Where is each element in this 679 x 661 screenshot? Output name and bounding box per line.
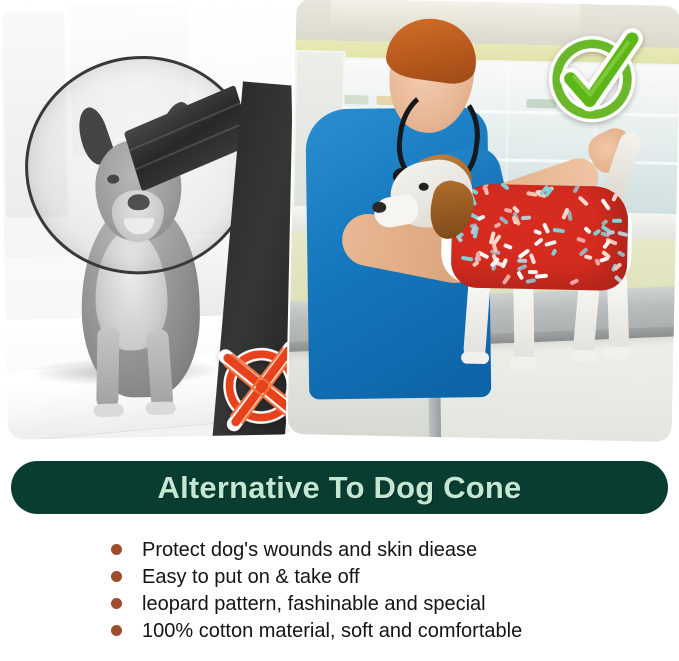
suit-confetti-dot xyxy=(602,239,611,249)
suit-confetti-dot xyxy=(521,215,531,219)
suit-confetti-dot xyxy=(502,274,511,285)
list-item: Protect dog's wounds and skin diease xyxy=(0,536,679,563)
suit-confetti-dot xyxy=(576,236,586,242)
suit-confetti-dot xyxy=(534,237,544,246)
bullet-dot-icon xyxy=(111,544,122,555)
suit-confetti-dot xyxy=(601,198,611,211)
suit-confetti-dot xyxy=(572,184,580,193)
suit-confetti-dot xyxy=(552,228,565,233)
suit-confetti-dot xyxy=(517,270,525,280)
suit-confetti-dot xyxy=(542,223,550,234)
dog-paw-right xyxy=(145,402,175,416)
suit-confetti-dot xyxy=(518,249,530,259)
bullet-dot-icon xyxy=(111,571,122,582)
headline-banner: Alternative To Dog Cone xyxy=(11,461,668,514)
list-item: leopard pattern, fashinable and special xyxy=(0,590,679,617)
suit-confetti-dot xyxy=(525,278,536,284)
suit-confetti-dot xyxy=(503,243,513,250)
suit-confetti-dot xyxy=(578,195,589,206)
list-item-label: Easy to put on & take off xyxy=(142,567,360,587)
beagle-leg-front-right xyxy=(513,279,534,363)
beagle-paw-3 xyxy=(571,350,599,363)
suit-confetti-dot xyxy=(584,255,592,260)
product-infographic: Alternative To Dog Cone Protect dog's wo… xyxy=(0,0,679,661)
suit-confetti-dot xyxy=(612,193,618,202)
beagle-paw-4 xyxy=(603,347,631,360)
suit-confetti-dot xyxy=(533,229,541,235)
photo-dog-with-cone xyxy=(0,1,298,439)
list-item-label: Protect dog's wounds and skin diease xyxy=(142,540,477,560)
suit-confetti-dot xyxy=(607,230,615,235)
feature-list: Protect dog's wounds and skin diease Eas… xyxy=(0,536,679,644)
suit-confetti-dot xyxy=(494,222,502,228)
green-check-badge xyxy=(546,25,646,125)
suit-confetti-dot xyxy=(550,248,556,256)
suit-confetti-dot xyxy=(535,273,548,278)
page-title: Alternative To Dog Cone xyxy=(158,472,522,503)
list-item-label: leopard pattern, fashinable and special xyxy=(142,594,486,614)
bullet-dot-icon xyxy=(111,625,122,636)
suit-confetti-dot xyxy=(584,226,592,234)
list-item: 100% cotton material, soft and comfortab… xyxy=(0,617,679,644)
suit-confetti-dot xyxy=(528,270,538,274)
suit-confetti-dot xyxy=(504,207,513,212)
suit-confetti-dot xyxy=(461,255,474,261)
list-item: Easy to put on & take off xyxy=(0,563,679,590)
suit-confetti-dot xyxy=(526,191,537,196)
dog-front-leg-left xyxy=(96,328,119,410)
photo-dog-in-recovery-suit xyxy=(287,0,679,442)
suit-confetti-dot xyxy=(612,219,622,223)
beagle-paw-1 xyxy=(461,352,489,365)
list-item-label: 100% cotton material, soft and comfortab… xyxy=(142,621,522,641)
suit-confetti-dot xyxy=(614,275,624,285)
beagle-eye xyxy=(419,183,429,191)
suit-confetti-dot xyxy=(517,258,527,262)
suit-confetti-dot xyxy=(570,278,580,285)
suit-confetti-dot xyxy=(618,230,628,236)
suit-confetti-dot xyxy=(617,250,626,257)
suit-confetti-dot xyxy=(545,239,557,246)
photo-comparison-row xyxy=(0,0,679,440)
suit-confetti-dot xyxy=(601,218,609,225)
suit-confetti-dot xyxy=(529,253,536,265)
red-recovery-suit xyxy=(451,183,629,291)
dog-paw-left xyxy=(94,404,124,418)
bullet-dot-icon xyxy=(111,598,122,609)
beagle-paw-2 xyxy=(509,357,537,370)
red-cross-badge xyxy=(212,337,298,435)
suit-confetti-dot xyxy=(500,183,509,190)
